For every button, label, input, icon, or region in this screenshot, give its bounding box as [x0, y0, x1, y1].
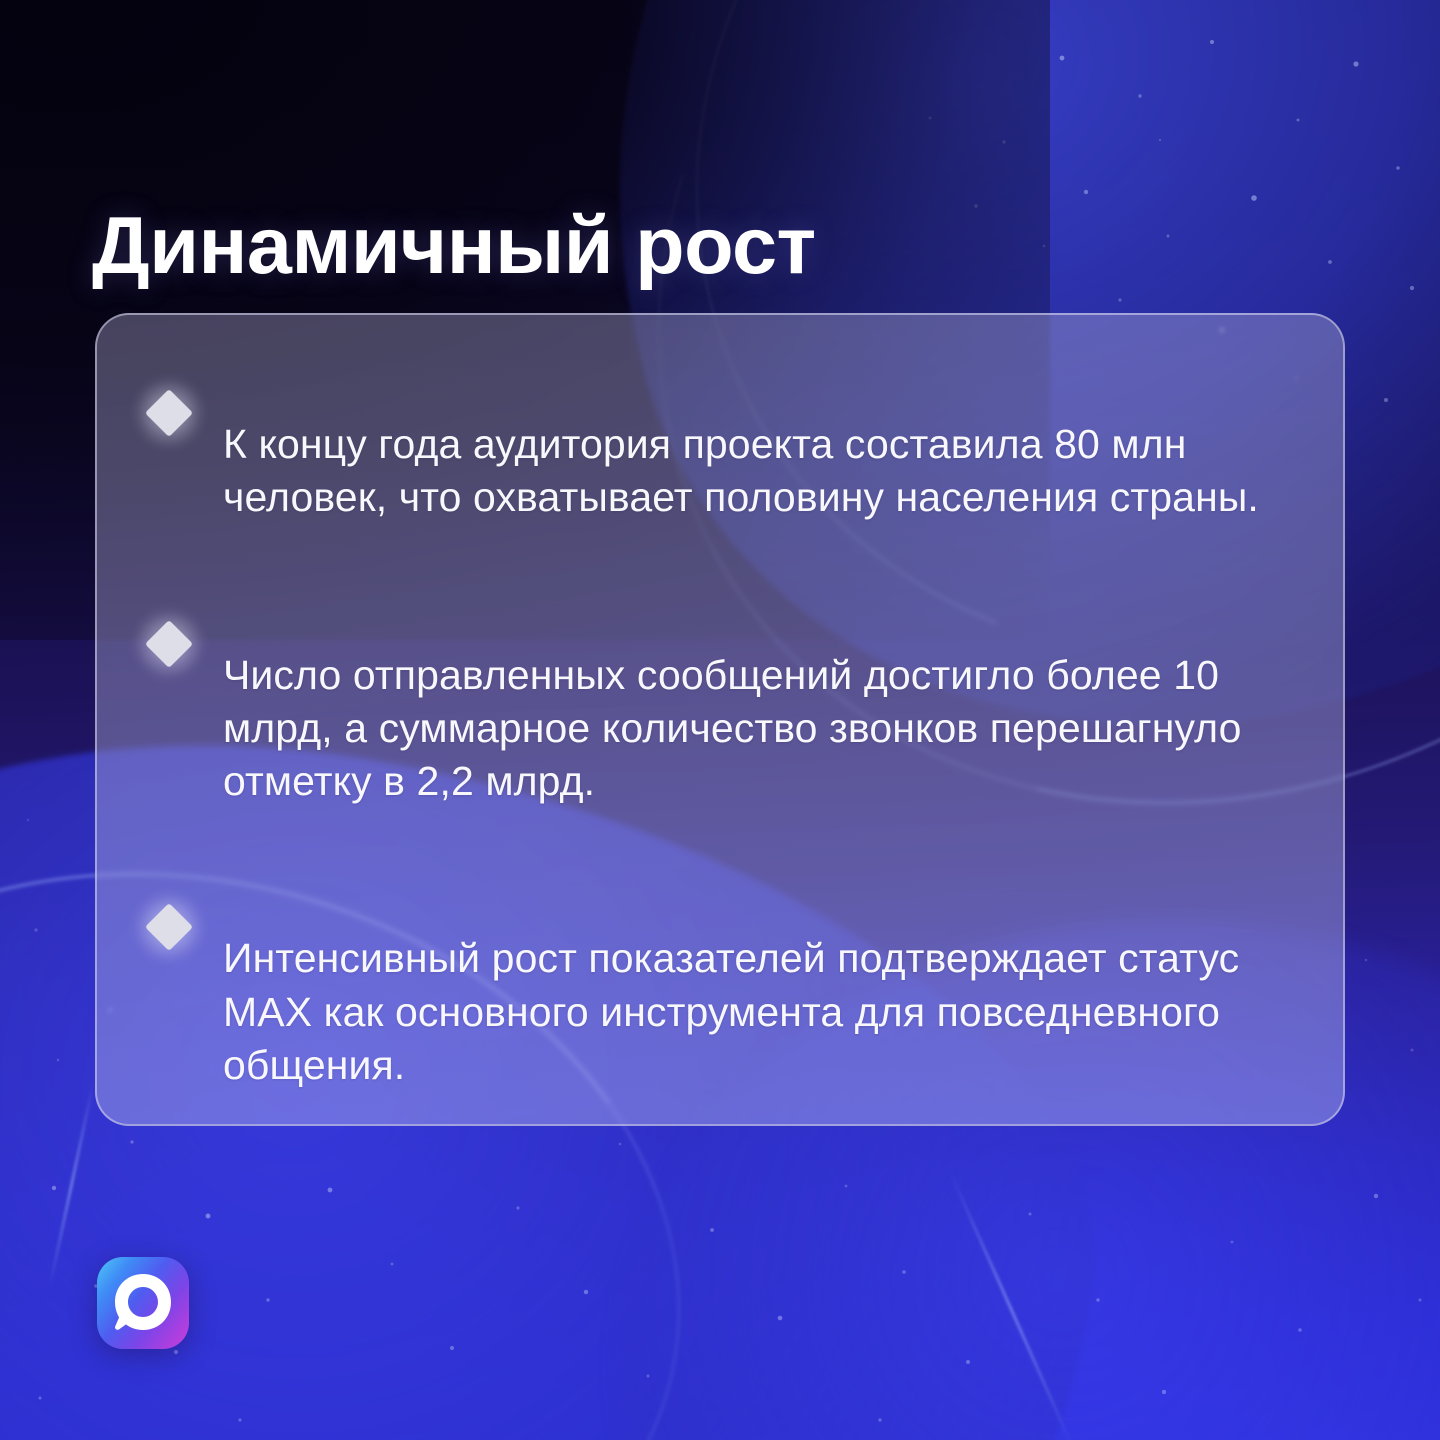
page-title: Динамичный рост [92, 204, 816, 289]
list-item-text: Интенсивный рост показателей подтверждае… [223, 932, 1287, 1092]
list-item-text: К концу года аудитория проекта составила… [223, 418, 1287, 525]
content-card-body: К концу года аудитория проекта составила… [97, 315, 1343, 1124]
content-card: К концу года аудитория проекта составила… [95, 313, 1345, 1126]
list-item: К концу года аудитория проекта составила… [141, 377, 1287, 566]
max-app-logo [97, 1257, 189, 1349]
list-item: Интенсивный рост показателей подтверждае… [141, 891, 1287, 1126]
max-logo-mark-icon [112, 1272, 174, 1334]
diamond-bullet-icon [141, 616, 197, 672]
list-item: Число отправленных сообщений достигло бо… [141, 608, 1287, 850]
diamond-bullet-icon [141, 385, 197, 441]
diamond-bullet-icon [141, 899, 197, 955]
list-item-text: Число отправленных сообщений достигло бо… [223, 649, 1287, 809]
slide-root: Динамичный рост К концу года аудитория п… [0, 0, 1440, 1440]
